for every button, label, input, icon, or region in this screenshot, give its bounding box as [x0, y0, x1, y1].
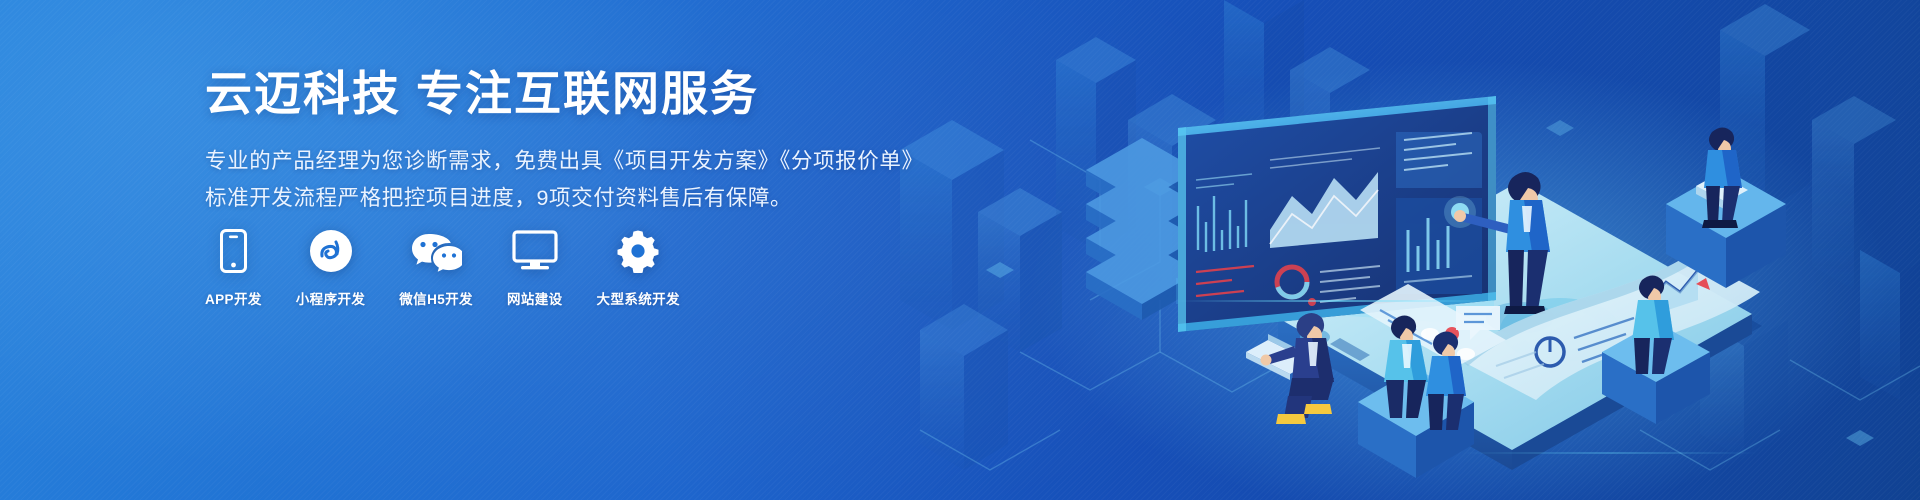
subtitle-line-1: 专业的产品经理为您诊断需求，免费出具《项目开发方案》《分项报价单》: [205, 143, 925, 180]
service-item-large-system[interactable]: 大型系统开发: [597, 228, 680, 308]
hero-banner: 云迈科技 专注互联网服务 专业的产品经理为您诊断需求，免费出具《项目开发方案》《…: [0, 0, 1920, 500]
service-label: 大型系统开发: [597, 288, 680, 308]
service-label: APP开发: [205, 288, 262, 308]
service-label: 小程序开发: [296, 288, 366, 308]
isometric-illustration: [860, 0, 1920, 500]
banner-subtitle: 专业的产品经理为您诊断需求，免费出具《项目开发方案》《分项报价单》 标准开发流程…: [205, 143, 925, 217]
service-list: APP开发 小程序开发: [205, 228, 680, 308]
gear-icon: [616, 228, 660, 274]
mini-program-icon: [309, 228, 353, 274]
service-label: 网站建设: [507, 288, 563, 308]
mobile-phone-icon: [220, 228, 247, 274]
service-item-wechat-h5[interactable]: 微信H5开发: [399, 228, 473, 308]
wechat-icon: [410, 228, 462, 274]
banner-content: 云迈科技 专注互联网服务 专业的产品经理为您诊断需求，免费出具《项目开发方案》《…: [205, 66, 925, 217]
subtitle-line-2: 标准开发流程严格把控项目进度，9项交付资料售后有保障。: [205, 180, 925, 217]
service-item-mini-program[interactable]: 小程序开发: [296, 228, 366, 308]
service-item-website[interactable]: 网站建设: [507, 228, 563, 308]
monitor-icon: [512, 228, 558, 274]
page-title: 云迈科技 专注互联网服务: [205, 66, 925, 121]
service-label: 微信H5开发: [399, 288, 473, 308]
dashboard-screen: [1176, 96, 1496, 332]
service-item-app[interactable]: APP开发: [205, 228, 262, 308]
